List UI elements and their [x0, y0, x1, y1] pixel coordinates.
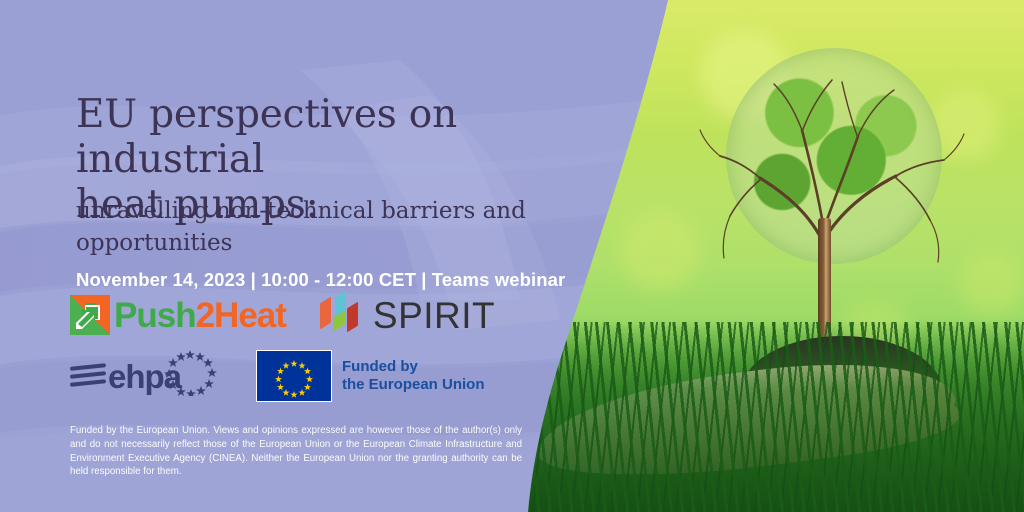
angled-blocks-icon: [320, 294, 366, 336]
eu-stars-icon: [257, 351, 331, 401]
push2heat-logo[interactable]: Push2Heat: [70, 295, 286, 335]
content-area: EU perspectives on industrial heat pumps…: [0, 0, 660, 512]
eu-funding-text: Funded by the European Union: [342, 358, 485, 395]
event-datetime: November 14, 2023 | 10:00 - 12:00 CET | …: [76, 269, 565, 291]
title-line-1: EU perspectives on industrial: [76, 92, 646, 182]
push2heat-wordmark: Push2Heat: [114, 298, 286, 333]
arrow-square-icon: [70, 295, 110, 335]
eu-funding-line-2: the European Union: [342, 376, 485, 394]
arrow-up-right-icon: [76, 301, 104, 329]
eu-funding-badge[interactable]: Funded by the European Union: [256, 350, 485, 402]
spirit-wordmark: SPIRIT: [373, 297, 495, 334]
eu-flag-icon: [256, 350, 332, 402]
push2heat-text-orange: 2Heat: [196, 296, 286, 335]
webinar-banner: EU perspectives on industrial heat pumps…: [0, 0, 1024, 512]
push2heat-text-green: Push: [114, 296, 196, 335]
star-circle-icon: [162, 350, 218, 396]
logo-row-primary: Push2Heat SPIRIT: [70, 294, 495, 336]
ehpa-logo[interactable]: ehpa: [70, 354, 220, 398]
waves-icon: [70, 363, 106, 389]
spirit-logo[interactable]: SPIRIT: [320, 294, 495, 336]
funding-disclaimer: Funded by the European Union. Views and …: [70, 424, 522, 479]
page-subtitle: unravelling non-technical barriers and o…: [76, 196, 576, 259]
eu-funding-line-1: Funded by: [342, 358, 485, 376]
logo-row-secondary: ehpa: [70, 350, 485, 402]
